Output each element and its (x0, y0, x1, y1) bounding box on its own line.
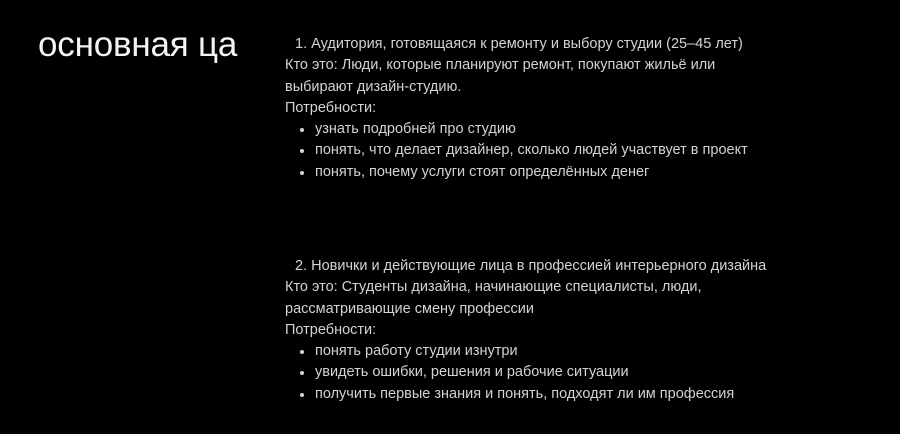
bullet-icon (300, 171, 304, 175)
title-column: основная ца (0, 0, 285, 434)
list-item: понять, что делает дизайнер, сколько люд… (285, 140, 900, 161)
bullet-icon (300, 371, 304, 375)
bullet-icon (300, 128, 304, 132)
list-item: понять работу студии изнутри (285, 341, 900, 362)
audience-description-line: рассматривающие смену профессии (285, 299, 900, 320)
audience-block-2: 2. Новички и действующие лица в професси… (285, 256, 900, 405)
audience-heading: 2. Новички и действующие лица в професси… (295, 256, 900, 277)
list-item-label: получить первые знания и понять, подходя… (315, 386, 734, 402)
audience-block-1: 1. Аудитория, готовящаяся к ремонту и вы… (285, 34, 900, 183)
list-item-label: узнать подробней про студию (315, 121, 516, 137)
list-item-label: понять, что делает дизайнер, сколько люд… (315, 142, 748, 158)
needs-list: понять работу студии изнутри увидеть оши… (285, 341, 900, 405)
list-item: узнать подробней про студию (285, 119, 900, 140)
page-title: основная ца (38, 25, 237, 65)
audience-description-line: выбирают дизайн-студию. (285, 77, 900, 98)
list-item: понять, почему услуги стоят определённых… (285, 162, 900, 183)
list-item-label: увидеть ошибки, решения и рабочие ситуац… (315, 364, 629, 380)
list-item-label: понять, почему услуги стоят определённых… (315, 164, 649, 180)
bullet-icon (300, 149, 304, 153)
needs-list: узнать подробней про студию понять, что … (285, 119, 900, 183)
audience-description-line: Кто это: Люди, которые планируют ремонт,… (285, 55, 900, 76)
audience-description-line: Кто это: Студенты дизайна, начинающие сп… (285, 277, 900, 298)
needs-label: Потребности: (285, 320, 900, 341)
slide-root: основная ца 1. Аудитория, готовящаяся к … (0, 0, 900, 434)
content-column: 1. Аудитория, готовящаяся к ремонту и вы… (285, 0, 900, 434)
list-item-label: понять работу студии изнутри (315, 343, 518, 359)
list-item: получить первые знания и понять, подходя… (285, 384, 900, 405)
bullet-icon (300, 350, 304, 354)
audience-heading: 1. Аудитория, готовящаяся к ремонту и вы… (295, 34, 900, 55)
bullet-icon (300, 393, 304, 397)
needs-label: Потребности: (285, 98, 900, 119)
list-item: увидеть ошибки, решения и рабочие ситуац… (285, 362, 900, 383)
